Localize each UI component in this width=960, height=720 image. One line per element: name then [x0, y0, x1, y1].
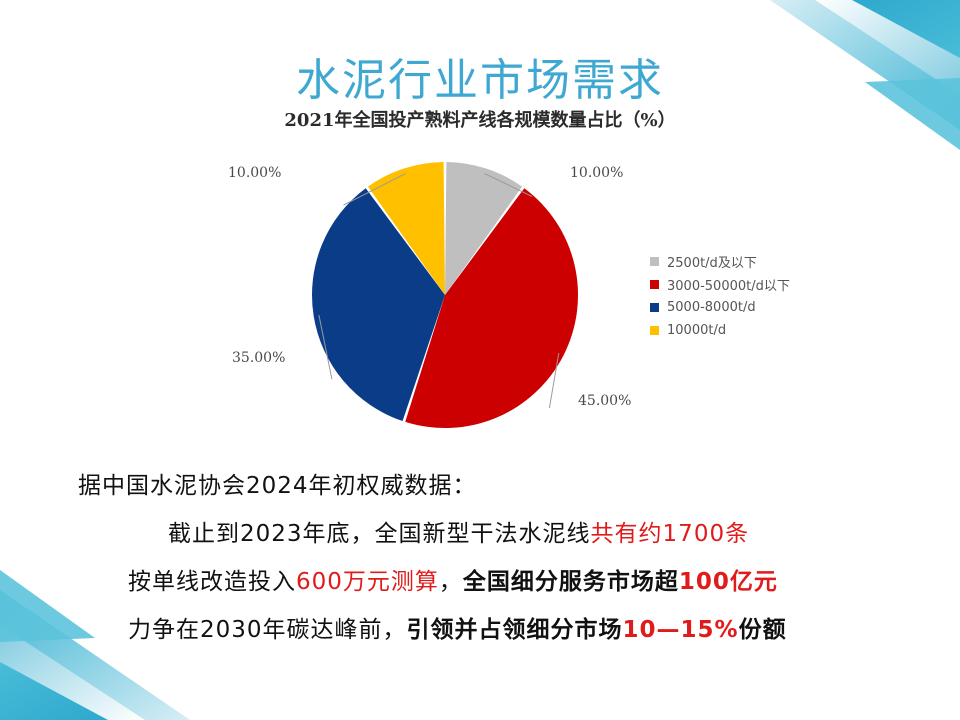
slide-canvas: 水泥行业市场需求 2021年全国投产熟料产线各规模数量占比（%） 10.00% …: [0, 0, 960, 720]
body-line-2-highlight: 共有约1700条: [591, 521, 750, 547]
body-line-3-text-a: 按单线改造投入: [128, 569, 296, 595]
body-line-3-comma: ，: [439, 569, 463, 595]
page-title: 水泥行业市场需求: [0, 56, 960, 106]
body-line-1-text: 据中国水泥协会2024年初权威数据：: [78, 473, 477, 499]
pie-label-3000-50000td: 45.00%: [578, 393, 631, 409]
legend-label: 3000-50000t/d以下: [667, 275, 790, 294]
legend-label: 2500t/d及以下: [667, 252, 757, 271]
body-line-3-highlight-b: 100亿元: [679, 569, 778, 595]
legend-label: 5000-8000t/d: [667, 300, 756, 315]
pie-slices: [312, 162, 578, 428]
body-line-3-highlight-a: 600万元测算: [296, 569, 439, 595]
body-line-3-text-b: 全国细分服务市场超: [463, 569, 679, 595]
pie-graphic: [300, 160, 590, 430]
body-line-2-text: 截止到2023年底，全国新型干法水泥线: [168, 521, 591, 547]
body-line-2: 截止到2023年底，全国新型干法水泥线共有约1700条: [0, 510, 960, 558]
body-line-4-highlight: 10—15%: [623, 617, 739, 643]
legend-swatch-icon: [650, 326, 659, 335]
legend-item-2500td[interactable]: 2500t/d及以下: [650, 250, 880, 273]
body-line-3: 按单线改造投入600万元测算，全国细分服务市场超100亿元: [0, 558, 960, 606]
body-line-4-text-a: 力争在2030年碳达峰前，: [128, 617, 407, 643]
pie-label-2500td: 10.00%: [570, 165, 623, 181]
chart-legend: 2500t/d及以下 3000-50000t/d以下 5000-8000t/d …: [650, 250, 880, 342]
pie-chart: 10.00% 10.00% 45.00% 35.00% 2500t/d及以下 3…: [240, 150, 880, 440]
legend-swatch-icon: [650, 280, 659, 289]
pie-label-10000td: 10.00%: [228, 165, 281, 181]
legend-item-5000-8000td[interactable]: 5000-8000t/d: [650, 296, 880, 319]
legend-label: 10000t/d: [667, 323, 726, 338]
pie-label-5000-8000td: 35.00%: [232, 350, 285, 366]
title-block: 水泥行业市场需求 2021年全国投产熟料产线各规模数量占比（%）: [0, 56, 960, 132]
body-line-4-text-b: 引领并占领细分市场: [407, 617, 623, 643]
legend-item-10000td[interactable]: 10000t/d: [650, 319, 880, 342]
legend-swatch-icon: [650, 257, 659, 266]
legend-item-3000-50000td[interactable]: 3000-50000t/d以下: [650, 273, 880, 296]
body-text-block: 据中国水泥协会2024年初权威数据： 截止到2023年底，全国新型干法水泥线共有…: [0, 462, 960, 654]
body-line-4: 力争在2030年碳达峰前，引领并占领细分市场10—15%份额: [0, 606, 960, 654]
body-line-4-text-c: 份额: [739, 617, 787, 643]
pie-svg: [300, 160, 590, 430]
legend-swatch-icon: [650, 303, 659, 312]
chart-subtitle: 2021年全国投产熟料产线各规模数量占比（%）: [0, 110, 960, 132]
body-line-1: 据中国水泥协会2024年初权威数据：: [0, 462, 960, 510]
